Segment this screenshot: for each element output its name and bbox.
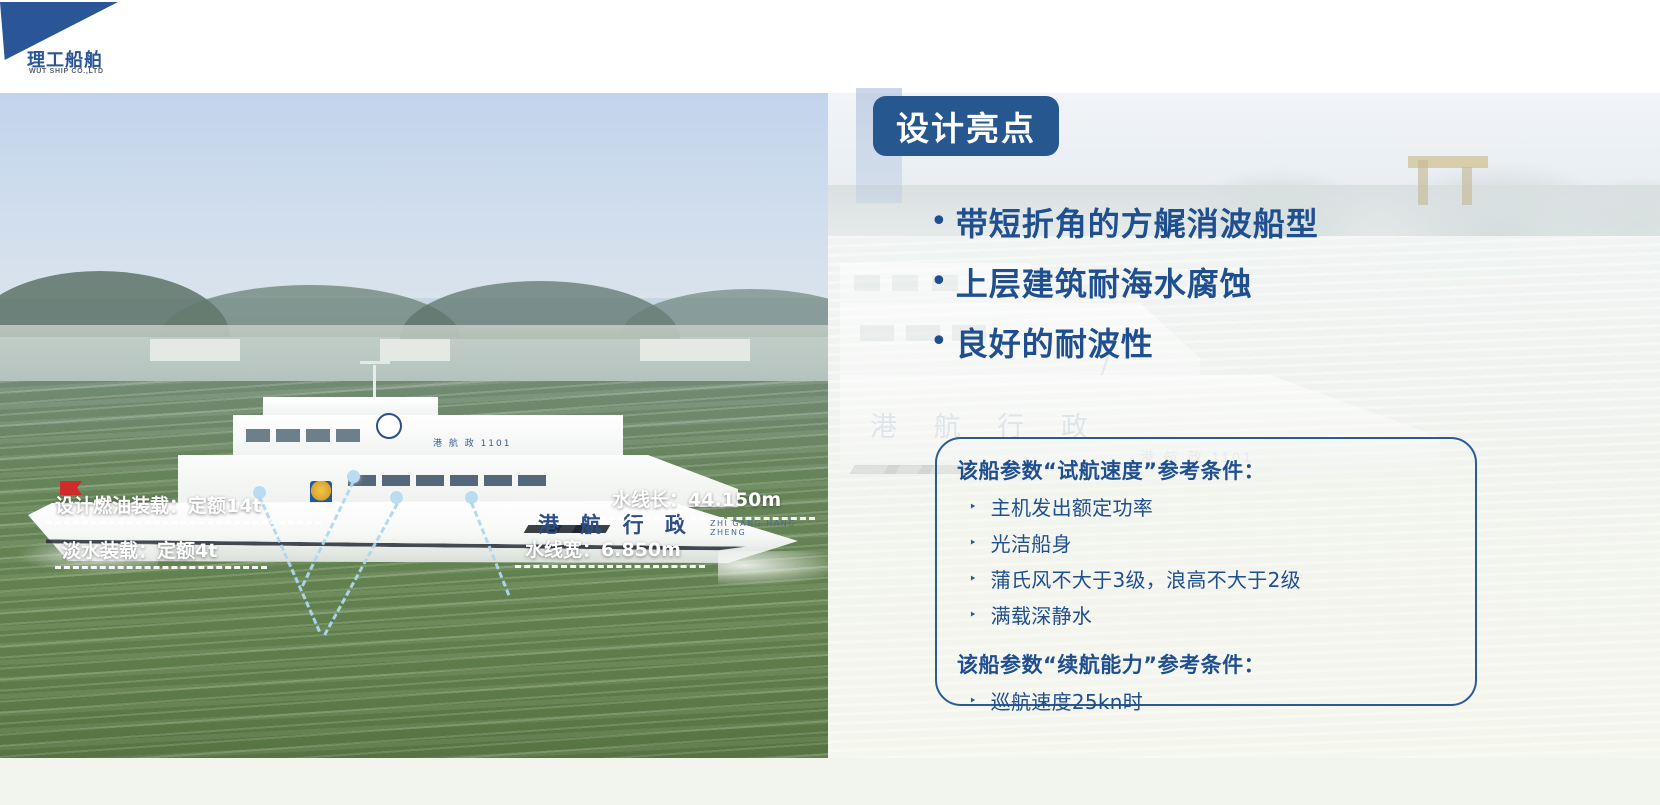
highlights-list: • 带短折角的方艉消波船型 • 上层建筑耐海水腐蚀 • 良好的耐波性: [930, 205, 1490, 385]
triangle-bullet-icon: ‣: [969, 689, 977, 715]
page-title: 设计亮点: [896, 102, 1036, 150]
panel-title-badge: 设计亮点: [873, 96, 1059, 156]
condition-text: 满载深静水: [991, 603, 1093, 629]
leader-dot: [390, 491, 403, 504]
conditions-box: 该船参数“试航速度”参考条件： ‣ 主机发出额定功率 ‣ 光洁船身 ‣ 蒲氏风不…: [935, 437, 1477, 706]
list-item: ‣ 光洁船身: [969, 531, 1461, 557]
triangle-bullet-icon: ‣: [969, 603, 977, 629]
list-item: ‣ 蒲氏风不大于3级，浪高不大于2级: [969, 567, 1461, 593]
list-item: ‣ 主机发出额定功率: [969, 495, 1461, 521]
vessel-window: [484, 475, 512, 486]
vessel-window: [336, 429, 360, 442]
list-item: • 上层建筑耐海水腐蚀: [930, 265, 1490, 303]
bullet-dot-icon: •: [930, 325, 948, 359]
vessel-emblem-icon: [310, 481, 332, 505]
vessel-window: [276, 429, 300, 442]
vessel-small-name: 港 航 政 1101: [433, 436, 512, 449]
photo-shore-building: [640, 339, 750, 361]
highlight-text: 良好的耐波性: [956, 325, 1154, 363]
vessel-wake: [718, 551, 828, 587]
vessel-window: [450, 475, 478, 486]
vessel-window: [246, 429, 270, 442]
triangle-bullet-icon: ‣: [969, 531, 977, 557]
background-crane-leg: [1462, 167, 1472, 205]
condition-text: 光洁船身: [991, 531, 1072, 557]
photo-shore-building: [380, 339, 450, 361]
list-item: • 带短折角的方艉消波船型: [930, 205, 1490, 243]
condition-text: 主机发出额定功率: [991, 495, 1153, 521]
callout-waterline-beam-rule: [515, 565, 705, 568]
list-item: ‣ 满载深静水: [969, 603, 1461, 629]
background-crane-leg: [1418, 160, 1428, 205]
condition-text: 巡航速度25kn时: [991, 689, 1143, 715]
callout-fuel-rule: [46, 521, 321, 524]
callout-waterline-length-rule: [600, 517, 815, 520]
triangle-bullet-icon: ‣: [969, 567, 977, 593]
vessel-mast-icon: [373, 365, 376, 399]
vessel-radar-icon: [376, 413, 402, 439]
callout-freshwater: 淡水装载：定额4t: [62, 536, 217, 563]
condition-text: 蒲氏风不大于3级，浪高不大于2级: [991, 567, 1301, 593]
photo-sky: [0, 93, 828, 298]
callout-waterline-length: 水线长：44.150m: [612, 485, 781, 512]
vessel-window: [518, 475, 546, 486]
page-header: 理工船舶 WUT SHIP CO.,LTD: [0, 0, 1660, 93]
vessel-window: [416, 475, 444, 486]
brand-logo: 理工船舶 WUT SHIP CO.,LTD: [0, 0, 240, 93]
callout-freshwater-rule: [55, 566, 267, 569]
highlight-text: 上层建筑耐海水腐蚀: [956, 265, 1253, 303]
ferry-photo: 港 航 政 1101 港 航 行 政 ZHI GANG HANG ZHENG 设…: [0, 93, 828, 758]
brand-name-en: WUT SHIP CO.,LTD: [29, 68, 104, 75]
vessel-window: [382, 475, 410, 486]
bullet-dot-icon: •: [930, 205, 948, 239]
callout-waterline-beam: 水线宽：6.850m: [525, 535, 681, 562]
vessel-window: [306, 429, 330, 442]
callout-fuel: 设计燃油装载：定额14t: [55, 491, 262, 518]
list-item: • 良好的耐波性: [930, 325, 1490, 363]
bullet-dot-icon: •: [930, 265, 948, 299]
photo-shore-building: [150, 339, 240, 361]
list-item: ‣ 巡航速度25kn时: [969, 689, 1461, 715]
triangle-bullet-icon: ‣: [969, 495, 977, 521]
highlight-text: 带短折角的方艉消波船型: [956, 205, 1319, 243]
conditions-heading-trial: 该船参数“试航速度”参考条件：: [957, 455, 1461, 485]
vessel-hull-code: ZHI GANG HANG ZHENG: [710, 519, 818, 537]
conditions-heading-endurance: 该船参数“续航能力”参考条件：: [957, 649, 1461, 679]
